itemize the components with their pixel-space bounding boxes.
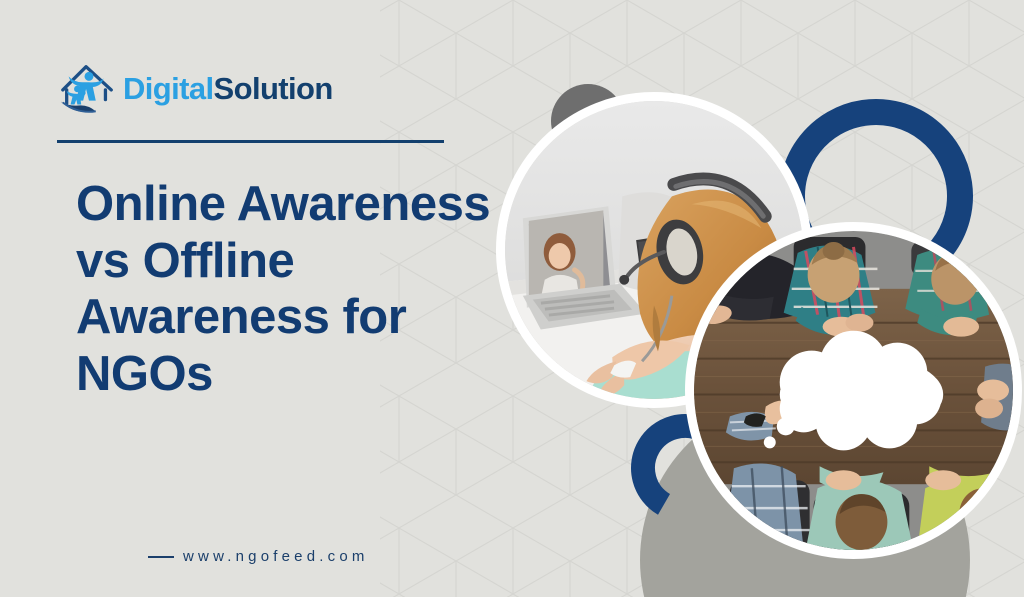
website-url[interactable]: www.ngofeed.com bbox=[148, 548, 369, 565]
offline-awareness-photo bbox=[685, 222, 1022, 559]
brand-name-part1: Digital bbox=[123, 71, 214, 106]
house-with-people-in-hand-icon bbox=[57, 57, 119, 119]
page-title: Online Awareness vs Offline Awareness fo… bbox=[76, 176, 506, 402]
brand-name-part2: Solution bbox=[214, 71, 333, 106]
url-dash-decoration bbox=[148, 556, 174, 558]
banner-canvas: DigitalSolution Online Awareness vs Offl… bbox=[0, 0, 1024, 597]
url-text: www.ngofeed.com bbox=[183, 548, 369, 565]
brand-logo[interactable]: DigitalSolution bbox=[57, 52, 333, 124]
brand-name: DigitalSolution bbox=[123, 73, 333, 104]
header-divider bbox=[57, 140, 444, 143]
